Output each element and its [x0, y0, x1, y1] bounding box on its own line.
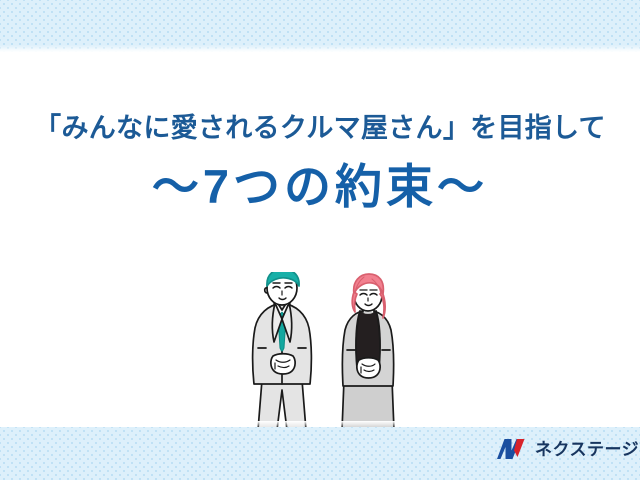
top-dot-band: [0, 0, 640, 52]
headline-block: 「みんなに愛されるクルマ屋さん」を目指して 〜7つの約束〜: [0, 112, 640, 217]
brand-wordmark: ネクステージ: [535, 441, 639, 458]
female-staff-figure: [342, 274, 394, 430]
staff-illustration: [238, 272, 420, 430]
nextage-n-logo-icon: [496, 437, 528, 461]
male-staff-figure: [253, 272, 312, 430]
brand-logo: ネクステージ: [496, 437, 639, 461]
headline-line-1: 「みんなに愛されるクルマ屋さん」を目指して: [0, 112, 640, 146]
slide-canvas: 「みんなに愛されるクルマ屋さん」を目指して 〜7つの約束〜: [0, 0, 640, 480]
headline-line-2: 〜7つの約束〜: [0, 158, 640, 217]
